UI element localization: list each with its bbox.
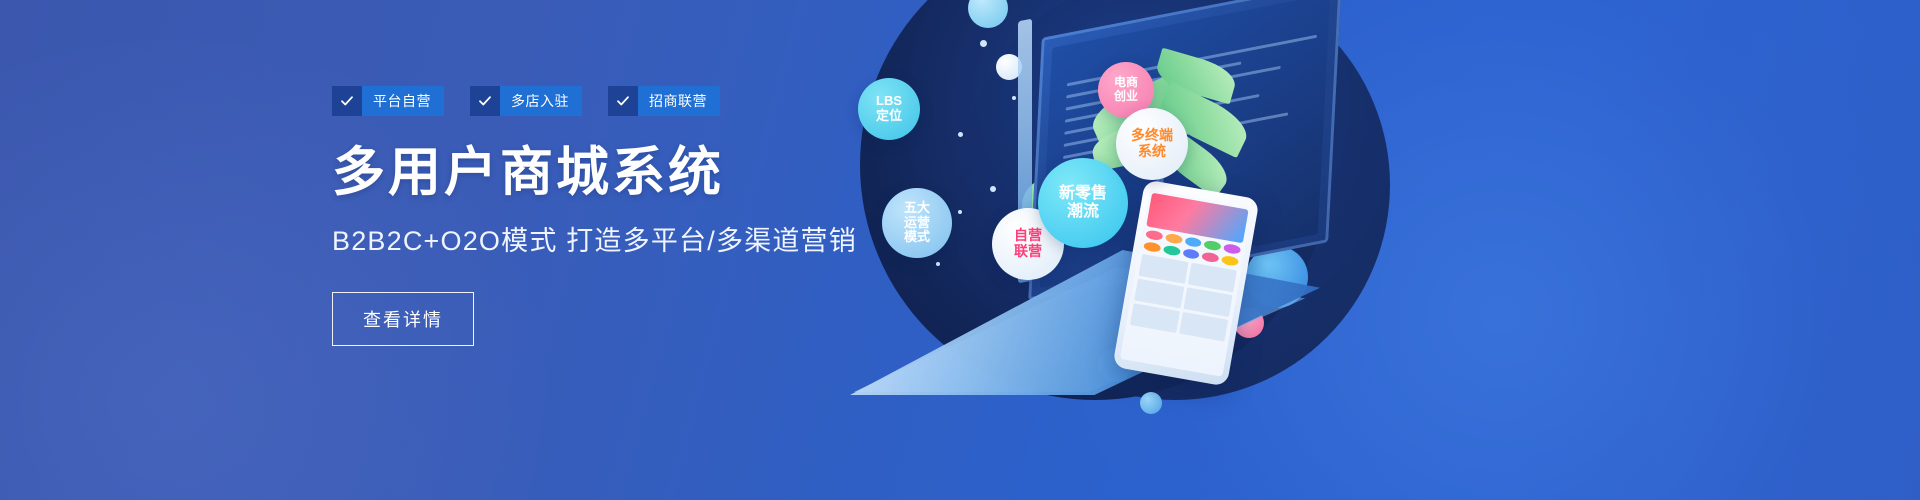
bubble-shape — [1140, 392, 1162, 414]
feature-tag-platform-self-run[interactable]: 平台自营 — [332, 86, 444, 116]
feature-tag-label: 招商联营 — [638, 86, 720, 116]
badge-line-1: 电商 — [1114, 76, 1138, 90]
badge-line-2: 创业 — [1114, 90, 1138, 104]
hero-banner: 平台自营 多店入驻 招商联营 多用户商城系统 B2B2C+O2O模式 打造多平台… — [0, 0, 1920, 500]
badge-line-2: 系统 — [1138, 144, 1166, 160]
feature-tag-label: 平台自营 — [362, 86, 444, 116]
badge-line-3: 模式 — [904, 230, 930, 245]
star-dot — [958, 210, 962, 214]
badge-line-1: LBS — [876, 94, 902, 109]
star-dot — [980, 40, 987, 47]
badge-line-1: 五大 — [904, 201, 930, 216]
star-dot — [1012, 96, 1016, 100]
check-icon — [470, 86, 500, 116]
feature-tag-label: 多店入驻 — [500, 86, 582, 116]
badge-line-1: 自营 — [1014, 228, 1042, 244]
view-details-button[interactable]: 查看详情 — [332, 292, 474, 346]
badge-new-retail: 新零售 潮流 — [1038, 158, 1128, 248]
check-icon — [608, 86, 638, 116]
badge-line-1: 新零售 — [1059, 185, 1107, 203]
feature-tag-multi-store[interactable]: 多店入驻 — [470, 86, 582, 116]
star-dot — [990, 186, 996, 192]
badge-line-1: 多终端 — [1131, 128, 1173, 144]
hero-illustration: LBS 定位 五大 运营 模式 自营 联营 新零售 潮流 电商 创业 多终端 系… — [840, 0, 1920, 500]
star-dot — [936, 262, 940, 266]
badge-five-modes: 五大 运营 模式 — [882, 188, 952, 258]
smartphone-screen — [1120, 189, 1252, 376]
badge-multi-terminal: 多终端 系统 — [1116, 108, 1188, 180]
feature-tag-joint-venture[interactable]: 招商联营 — [608, 86, 720, 116]
badge-line-2: 潮流 — [1067, 203, 1099, 221]
star-dot — [958, 132, 963, 137]
badge-line-2: 定位 — [876, 109, 902, 124]
badge-line-2: 联营 — [1014, 244, 1042, 260]
check-icon — [332, 86, 362, 116]
badge-line-2: 运营 — [904, 216, 930, 231]
badge-lbs: LBS 定位 — [858, 78, 920, 140]
